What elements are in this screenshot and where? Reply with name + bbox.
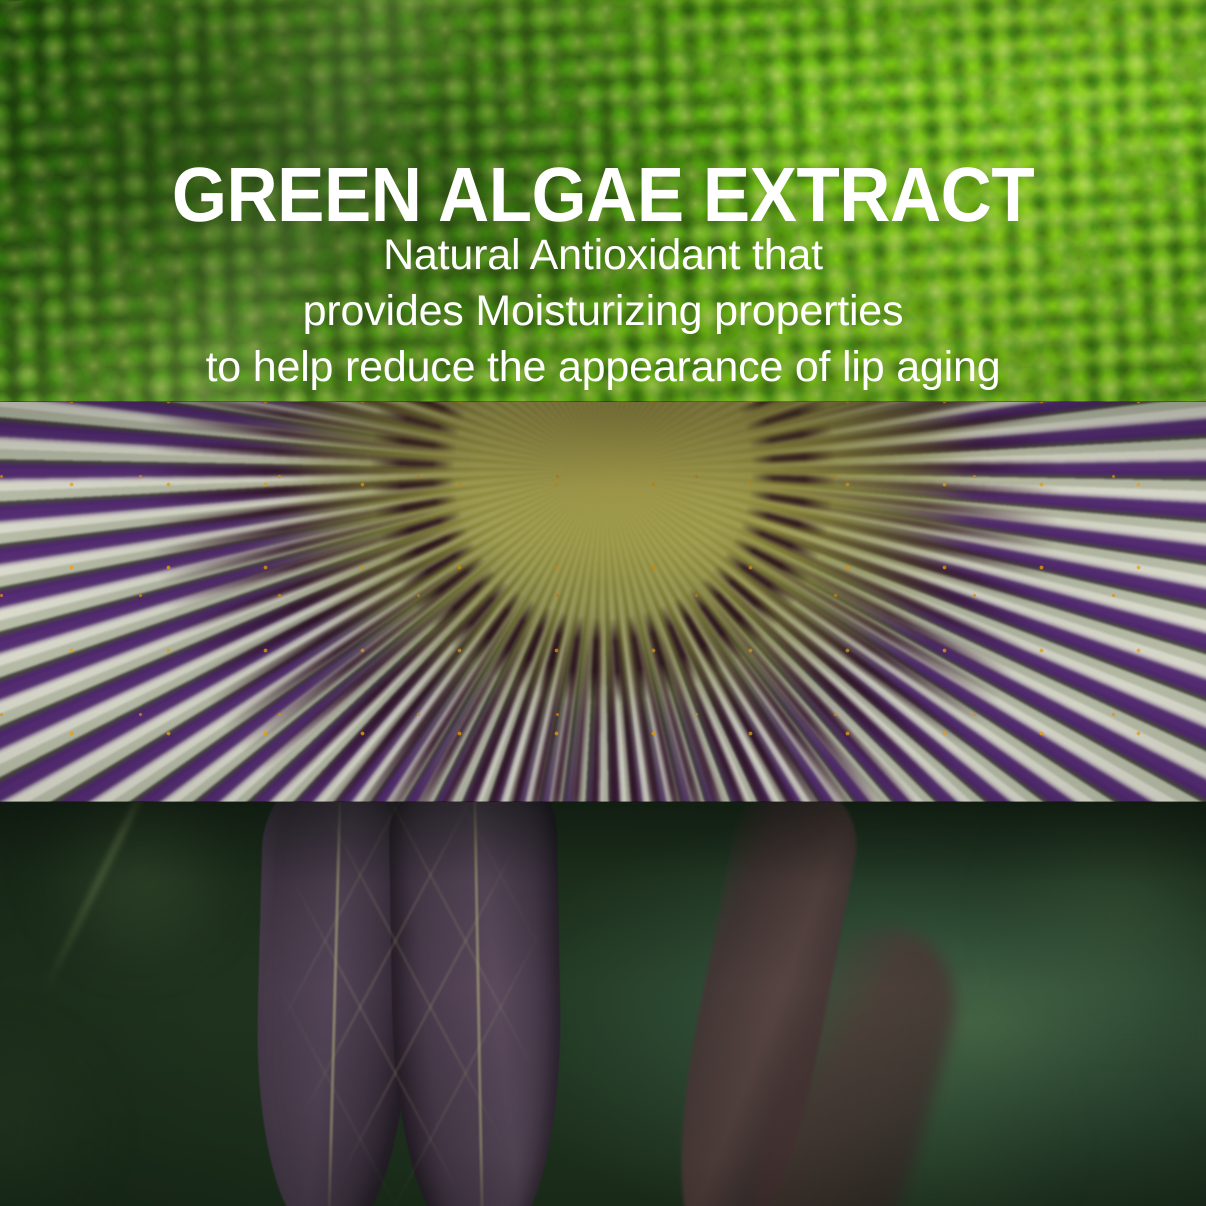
purple-tea-content: PURPLE TEA EXTRACT High content of polyp… <box>0 802 1206 1206</box>
passion-flower-content: PASSION FLOWER EXTRACT Polyphenols help … <box>0 402 1206 802</box>
green-algae-content: GREEN ALGAE EXTRACT Natural Antioxidant … <box>0 0 1206 402</box>
panel-purple-tea: PURPLE TEA EXTRACT High content of polyp… <box>0 802 1206 1206</box>
green-algae-description: Natural Antioxidant that provides Moistu… <box>0 228 1206 396</box>
panel-passion-flower: PASSION FLOWER EXTRACT Polyphenols help … <box>0 402 1206 802</box>
green-algae-title: GREEN ALGAE EXTRACT <box>172 157 1034 234</box>
panel-green-algae: GREEN ALGAE EXTRACT Natural Antioxidant … <box>0 0 1206 402</box>
ingredient-benefits-infographic: GREEN ALGAE EXTRACT Natural Antioxidant … <box>0 0 1206 1206</box>
